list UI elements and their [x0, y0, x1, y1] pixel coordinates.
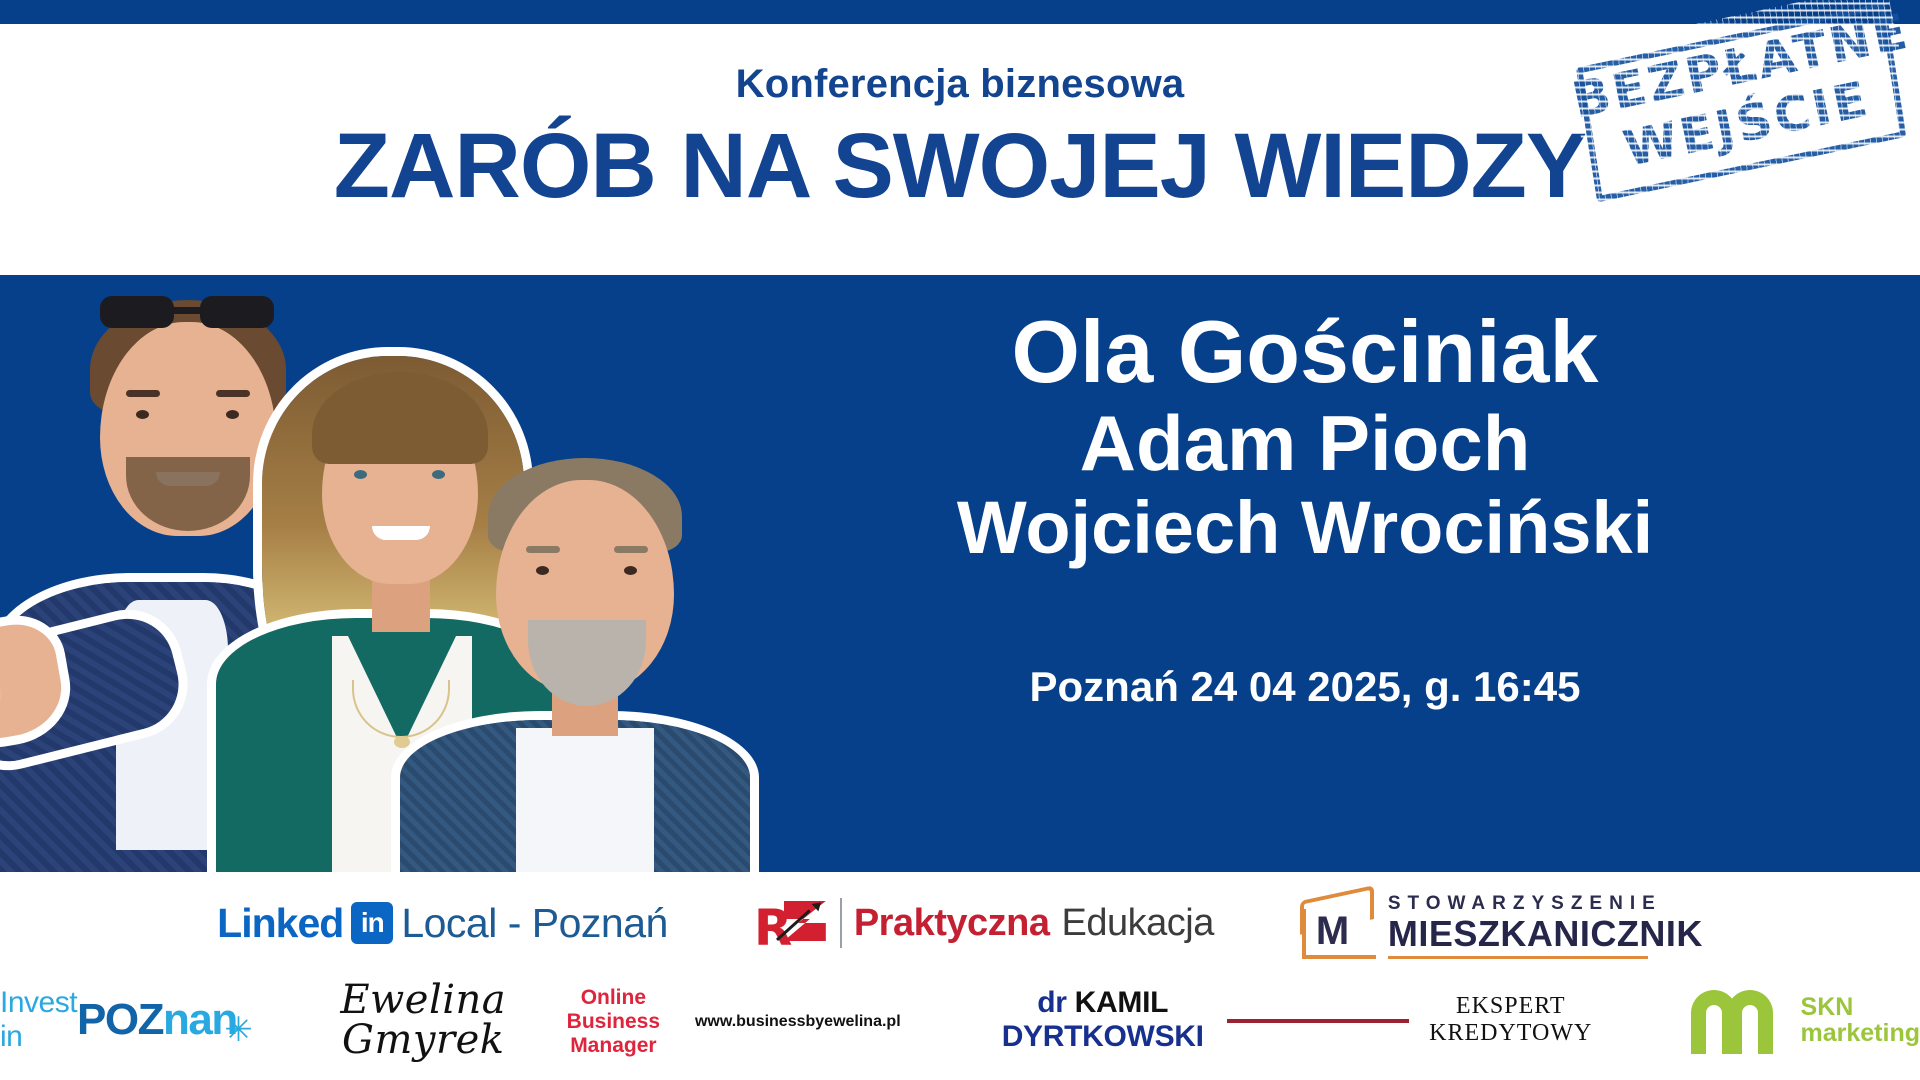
- shirt: [516, 728, 654, 872]
- divider: [840, 898, 842, 948]
- logo-row-2: Invest in POZnan ✳ Ewelina Gmyrek Online…: [0, 968, 1920, 1072]
- logo-dr-kamil-dyrtkowski[interactable]: dr KAMIL DYRTKOWSKI EKSPERT KREDYTOWY: [979, 986, 1613, 1054]
- speaker-name-1: Ola Gościniak: [760, 305, 1850, 398]
- header-band: Konferencja biznesowa ZARÓB NA SWOJEJ WI…: [0, 24, 1920, 275]
- top-blue-strip: [0, 0, 1920, 24]
- praktyczna-rz-icon: R: [754, 895, 828, 951]
- skn-line-2: marketing: [1801, 1020, 1920, 1046]
- ewelina-signature: Ewelina Gmyrek: [315, 980, 532, 1060]
- ewelina-role: Online Business Manager: [532, 986, 695, 1058]
- linkedin-in-badge-icon: in: [351, 902, 393, 944]
- partner-logos-footer: Linked in Local - Poznań R Praktyczna Ed…: [0, 872, 1920, 1080]
- logo-invest-in-poznan[interactable]: Invest in POZnan ✳: [0, 986, 237, 1054]
- grey-beard: [528, 620, 646, 706]
- poznan-star-icon: ✳: [224, 1010, 253, 1050]
- logo-praktyczna-edukacja[interactable]: R Praktyczna Edukacja: [754, 895, 1214, 951]
- kamil-last-name: DYRTKOWSKI: [1002, 1020, 1204, 1053]
- skn-text: SKN marketing: [1801, 994, 1920, 1047]
- logo-linkedin-local-poznan[interactable]: Linked in Local - Poznań: [217, 900, 668, 947]
- kamil-subtitle: EKSPERT KREDYTOWY: [1409, 993, 1613, 1047]
- speaker-name-3: Wojciech Wrociński: [760, 489, 1850, 567]
- main-blue-band: Ola Gościniak Adam Pioch Wojciech Wrociń…: [0, 275, 1920, 872]
- linkedin-local-suffix: Local - Poznań: [401, 900, 668, 947]
- event-datetime: Poznań 24 04 2025, g. 16:45: [760, 663, 1850, 711]
- logo-ewelina-gmyrek[interactable]: Ewelina Gmyrek Online Business Manager w…: [315, 980, 901, 1060]
- mieszkanicznik-big-line: MIESZKANICZNIK: [1388, 915, 1703, 953]
- invest-in-line: Invest in: [0, 986, 77, 1054]
- skn-line-1: SKN: [1801, 994, 1920, 1020]
- mieszkanicznik-text: STOWARZYSZENIE MIESZKANICZNIK: [1388, 893, 1703, 959]
- speakers-photo: [0, 275, 740, 872]
- kamil-underline: [1227, 1019, 1409, 1023]
- poznan-wordmark: POZnan: [77, 999, 237, 1041]
- conference-poster: Konferencja biznesowa ZARÓB NA SWOJEJ WI…: [0, 0, 1920, 1080]
- mieszkanicznik-house-icon: M: [1300, 887, 1376, 959]
- poz-part: POZ: [77, 995, 163, 1044]
- kamil-name-line: dr KAMIL DYRTKOWSKI: [979, 986, 1227, 1054]
- edukacja-word: Edukacja: [1062, 902, 1214, 945]
- pendant: [394, 736, 410, 748]
- speaker-photo-man-right: [410, 452, 740, 872]
- logo-row-1: Linked in Local - Poznań R Praktyczna Ed…: [0, 880, 1920, 966]
- ewelina-website: www.businessbyewelina.pl: [695, 1013, 901, 1031]
- skn-wave-icon: [1691, 986, 1787, 1054]
- speakers-list: Ola Gościniak Adam Pioch Wojciech Wrociń…: [760, 305, 1850, 567]
- kamil-dr-prefix: dr: [1037, 986, 1074, 1019]
- logo-stowarzyszenie-mieszkanicznik[interactable]: M STOWARZYSZENIE MIESZKANICZNIK: [1300, 887, 1703, 959]
- speaker-name-2: Adam Pioch: [760, 402, 1850, 485]
- kamil-first-name: KAMIL: [1075, 986, 1168, 1019]
- mieszkanicznik-underline: [1388, 956, 1648, 959]
- sunglasses-on-head: [100, 292, 274, 332]
- mieszkanicznik-small-line: STOWARZYSZENIE: [1388, 893, 1703, 915]
- praktyczna-word: Praktyczna: [854, 902, 1050, 945]
- logo-skn-marketing[interactable]: SKN marketing: [1691, 986, 1920, 1054]
- linkedin-wordmark: Linked: [217, 900, 343, 947]
